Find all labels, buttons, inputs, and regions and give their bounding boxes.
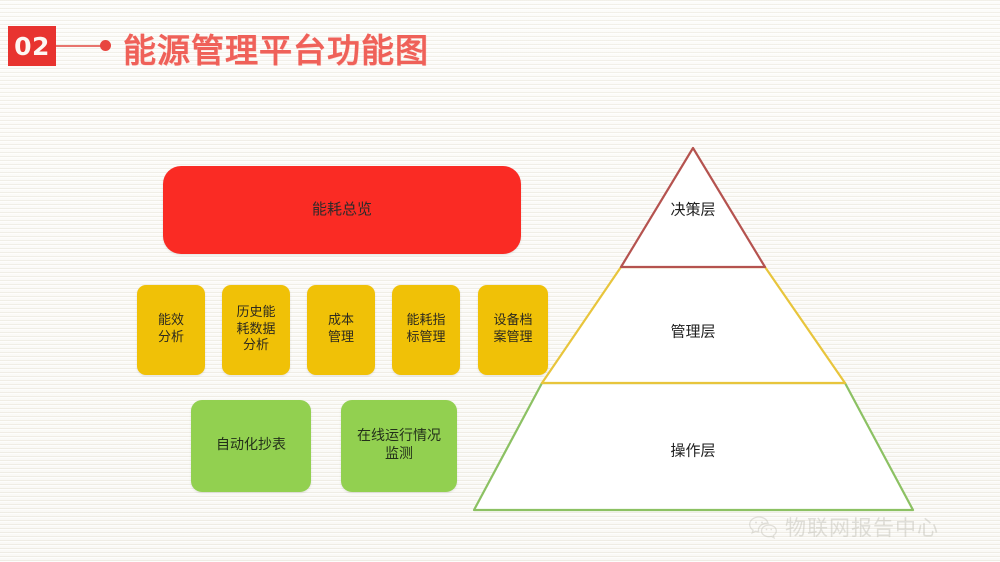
wechat-icon xyxy=(748,514,778,540)
function-box-energy-efficiency-analysis[interactable]: 能效分析 xyxy=(137,285,205,375)
badge-connector-dot xyxy=(100,40,111,51)
badge-connector-line xyxy=(56,45,106,47)
pyramid-label-decision: 决策层 xyxy=(670,199,715,220)
slide-header: 02 能源管理平台功能图 xyxy=(0,0,1000,92)
pyramid-label-operation: 操作层 xyxy=(670,440,715,461)
watermark-text: 物联网报告中心 xyxy=(785,512,939,542)
slide-canvas: 02 能源管理平台功能图 能耗总览 能效分析 历史能耗数据分析 成本管理 能耗指… xyxy=(0,0,1000,562)
section-number-badge: 02 xyxy=(8,26,56,66)
function-box-cost-management[interactable]: 成本管理 xyxy=(307,285,375,375)
page-title: 能源管理平台功能图 xyxy=(123,24,429,72)
watermark: 物联网报告中心 xyxy=(748,512,939,542)
function-box-energy-index-management[interactable]: 能耗指标管理 xyxy=(392,285,460,375)
function-box-automatic-meter-reading[interactable]: 自动化抄表 xyxy=(191,400,311,492)
function-box-historical-energy-data-analysis[interactable]: 历史能耗数据分析 xyxy=(222,285,290,375)
hierarchy-pyramid: 决策层 管理层 操作层 xyxy=(455,135,935,525)
function-box-online-operation-monitoring[interactable]: 在线运行情况监测 xyxy=(341,400,457,492)
section-number-text: 02 xyxy=(14,34,50,59)
pyramid-label-management: 管理层 xyxy=(670,321,715,342)
